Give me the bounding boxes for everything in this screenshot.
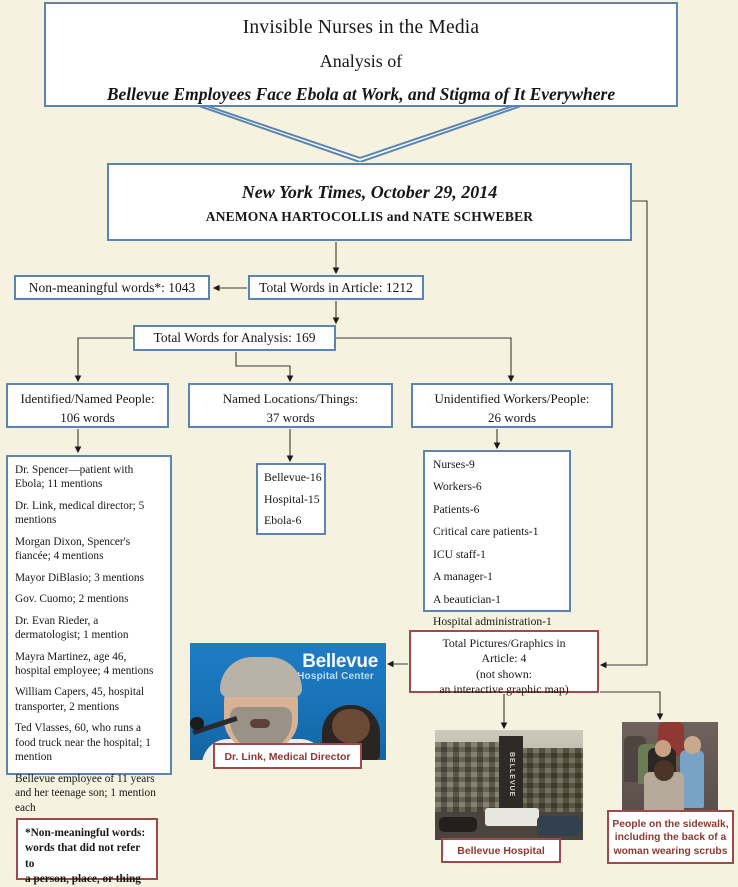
non-meaningful-words-box: Non-meaningful words*: 1043	[14, 275, 210, 300]
pedestrian-scrubs-woman-head	[684, 736, 701, 754]
list-item: Nurses-9	[433, 458, 569, 472]
list-item: Hospital-15	[264, 492, 324, 507]
pedestrian-woman-black-coat-head	[655, 740, 671, 757]
caption-dr-link: Dr. Link, Medical Director	[213, 743, 362, 769]
named-locations-list: Bellevue-16 Hospital-15 Ebola-6	[256, 463, 326, 535]
list-item: Dr. Spencer—patient with Ebola; 11 menti…	[15, 463, 163, 492]
list-item: ICU staff-1	[433, 548, 569, 562]
publication-label: New York Times, October 29, 2014	[109, 181, 630, 204]
list-item: Patients-6	[433, 503, 569, 517]
identified-people-list: Dr. Spencer—patient with Ebola; 11 menti…	[6, 455, 172, 775]
photo-people-sidewalk	[622, 722, 718, 816]
list-item: Dr. Evan Rieder, a dermatologist; 1 ment…	[15, 614, 163, 643]
category-title: Unidentified Workers/People:	[413, 391, 611, 407]
building-right-wing	[521, 748, 583, 816]
list-item: A beautician-1	[433, 593, 569, 607]
pictures-line-1: Total Pictures/Graphics in	[411, 636, 597, 651]
category-title: Identified/Named People:	[8, 391, 167, 407]
footnote-line-2: words that did not refer to	[25, 841, 150, 872]
pedestrian-front-man-head	[654, 760, 674, 781]
footnote-box: *Non-meaningful words: words that did no…	[16, 818, 158, 880]
category-identified-people: Identified/Named People: 106 words	[6, 383, 169, 428]
caption-people-sidewalk: People on the sidewalk, including the ba…	[607, 810, 734, 864]
pictures-line-3: (not shown:	[411, 667, 597, 682]
bellevue-brand-text: Bellevue	[302, 651, 378, 673]
down-chevron-icon	[199, 104, 521, 162]
words-for-analysis-box: Total Words for Analysis: 169	[133, 325, 336, 351]
list-item: A manager-1	[433, 570, 569, 584]
list-item: Bellevue-16	[264, 470, 324, 485]
list-item: Bellevue employee of 11 years and her te…	[15, 772, 163, 815]
bellevue-brand-subtext: Hospital Center	[297, 671, 374, 682]
photo-bellevue-hospital: BELLEVUE	[435, 730, 583, 840]
category-count: 106 words	[8, 410, 167, 426]
footnote-line-1: *Non-meaningful words:	[25, 826, 150, 841]
mouth	[250, 719, 270, 728]
title-line-3-article: Bellevue Employees Face Ebola at Work, a…	[46, 84, 676, 106]
category-named-locations: Named Locations/Things: 37 words	[188, 383, 393, 428]
car-right	[537, 816, 581, 836]
hair	[220, 657, 302, 697]
title-box: Invisible Nurses in the Media Analysis o…	[44, 2, 678, 107]
unidentified-workers-list: Nurses-9 Workers-6 Patients-6 Critical c…	[423, 450, 571, 612]
building-left-wing	[435, 742, 503, 814]
car-left	[439, 817, 477, 832]
category-unidentified-workers: Unidentified Workers/People: 26 words	[411, 383, 613, 428]
pictures-line-4: an interactive graphic map)	[411, 682, 597, 697]
bus	[485, 808, 539, 826]
places-items: Bellevue-16 Hospital-15 Ebola-6	[264, 470, 324, 528]
list-item: William Capers, 45, hospital transporter…	[15, 685, 163, 714]
list-item: Dr. Link, medical director; 5 mentions	[15, 499, 163, 528]
total-pictures-box: Total Pictures/Graphics in Article: 4 (n…	[409, 630, 599, 693]
total-words-box: Total Words in Article: 1212	[248, 275, 424, 300]
bellevue-vertical-sign: BELLEVUE	[505, 744, 517, 806]
microphone-head	[190, 717, 204, 730]
title-line-1: Invisible Nurses in the Media	[46, 16, 676, 40]
category-count: 26 words	[413, 410, 611, 426]
source-box: New York Times, October 29, 2014 ANEMONA…	[107, 163, 632, 241]
list-item: Morgan Dixon, Spencer's fiancée; 4 menti…	[15, 535, 163, 564]
list-item: Mayor DiBlasio; 3 mentions	[15, 571, 163, 585]
title-line-2: Analysis of	[46, 50, 676, 73]
list-item: Workers-6	[433, 480, 569, 494]
list-item: Critical care patients-1	[433, 525, 569, 539]
list-item: Ted Vlasses, 60, who runs a food truck n…	[15, 721, 163, 764]
category-count: 37 words	[190, 410, 391, 426]
pictures-line-2: Article: 4	[411, 651, 597, 666]
flowchart-canvas: Invisible Nurses in the Media Analysis o…	[0, 0, 738, 885]
caption-bellevue-hospital: Bellevue Hospital	[441, 838, 561, 863]
people-items: Dr. Spencer—patient with Ebola; 11 menti…	[15, 463, 163, 815]
list-item: Gov. Cuomo; 2 mentions	[15, 592, 163, 606]
background-person-face	[332, 709, 370, 743]
list-item: Ebola-6	[264, 513, 324, 528]
list-item: Mayra Martinez, age 46, hospital employe…	[15, 650, 163, 679]
list-item: Hospital administration-1	[433, 615, 569, 629]
category-title: Named Locations/Things:	[190, 391, 391, 407]
authors-label: ANEMONA HARTOCOLLIS and NATE SCHWEBER	[109, 209, 630, 226]
workers-items: Nurses-9 Workers-6 Patients-6 Critical c…	[433, 458, 569, 630]
